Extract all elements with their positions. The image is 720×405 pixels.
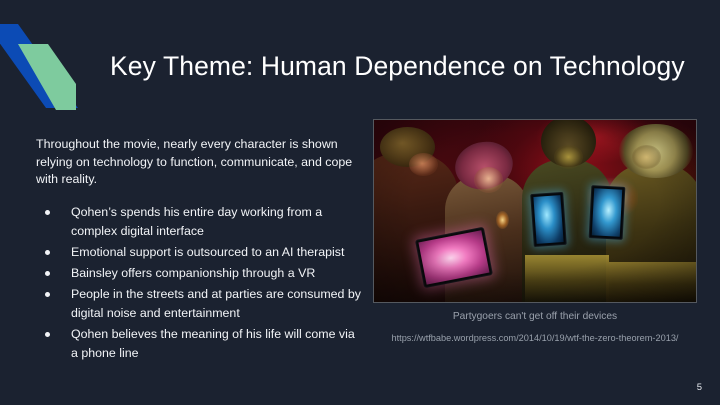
diagonal-bars-logo [0,22,100,110]
list-item-label: People in the streets and at parties are… [71,287,361,320]
bullet-list: Qohen’s spends his entire day working fr… [36,203,362,363]
list-item: Qohen believes the meaning of his life w… [36,325,362,363]
figure-image-wrapper [373,119,697,303]
list-item: People in the streets and at parties are… [36,285,362,323]
figure-source-url: https://wtfbabe.wordpress.com/2014/10/19… [373,332,697,345]
list-item: Qohen’s spends his entire day working fr… [36,203,362,241]
page-number: 5 [697,382,702,393]
intro-paragraph: Throughout the movie, nearly every chara… [36,136,362,189]
list-item-label: Emotional support is outsourced to an AI… [71,245,344,259]
list-item-label: Bainsley offers companionship through a … [71,266,315,280]
list-item: Bainsley offers companionship through a … [36,264,362,283]
bullet-dot-icon [45,250,50,255]
party-photo [373,119,697,303]
list-item-label: Qohen’s spends his entire day working fr… [71,205,322,238]
bullet-dot-icon [45,292,50,297]
content-column: Throughout the movie, nearly every chara… [36,136,362,365]
bullet-dot-icon [45,210,50,215]
page-title: Key Theme: Human Dependence on Technolog… [110,50,710,82]
slide: Key Theme: Human Dependence on Technolog… [0,0,720,405]
figure-caption: Partygoers can't get off their devices [373,310,697,324]
list-item: Emotional support is outsourced to an AI… [36,243,362,262]
list-item-label: Qohen believes the meaning of his life w… [71,327,355,360]
photo-vignette [374,120,696,302]
bullet-dot-icon [45,271,50,276]
bullet-dot-icon [45,332,50,337]
